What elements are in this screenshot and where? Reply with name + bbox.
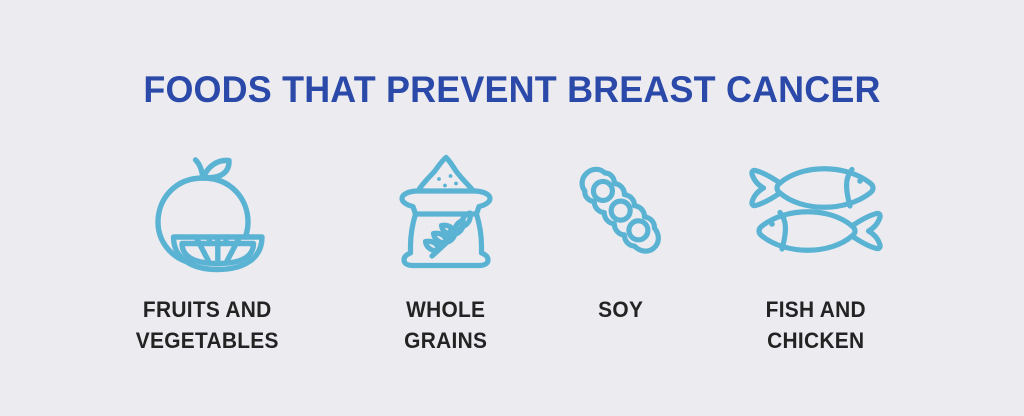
two-fish-icon xyxy=(746,146,886,276)
soybean-pod-icon xyxy=(579,146,663,276)
food-item-fruits-and-vegetables: FRUITS AND VEGETABLES xyxy=(70,146,344,356)
food-item-label-line1: WHOLE xyxy=(404,294,487,325)
food-item-soy: SOY xyxy=(546,146,696,325)
food-item-label: FRUITS AND VEGETABLES xyxy=(135,294,278,356)
food-item-fish-and-chicken: FISH AND CHICKEN xyxy=(716,146,916,356)
food-item-label: FISH AND CHICKEN xyxy=(766,294,866,356)
food-item-label-line1: SOY xyxy=(598,294,643,325)
orange-fruit-icon xyxy=(146,146,268,276)
food-item-whole-grains: WHOLE GRAINS xyxy=(356,146,536,356)
food-item-label: WHOLE GRAINS xyxy=(404,294,487,356)
food-item-label-line1: FRUITS AND xyxy=(135,294,278,325)
food-item-label-line2: VEGETABLES xyxy=(135,325,278,356)
food-item-label-line2: CHICKEN xyxy=(766,325,866,356)
food-item-label-line1: FISH AND xyxy=(766,294,866,325)
infographic-poster: FOODS THAT PREVENT BREAST CANCER xyxy=(0,0,1024,416)
grain-sack-icon xyxy=(394,146,498,276)
food-item-label-line2: GRAINS xyxy=(404,325,487,356)
food-items-row: FRUITS AND VEGETABLES xyxy=(0,146,1024,356)
page-title: FOODS THAT PREVENT BREAST CANCER xyxy=(15,68,1008,112)
food-item-label: SOY xyxy=(598,294,643,325)
